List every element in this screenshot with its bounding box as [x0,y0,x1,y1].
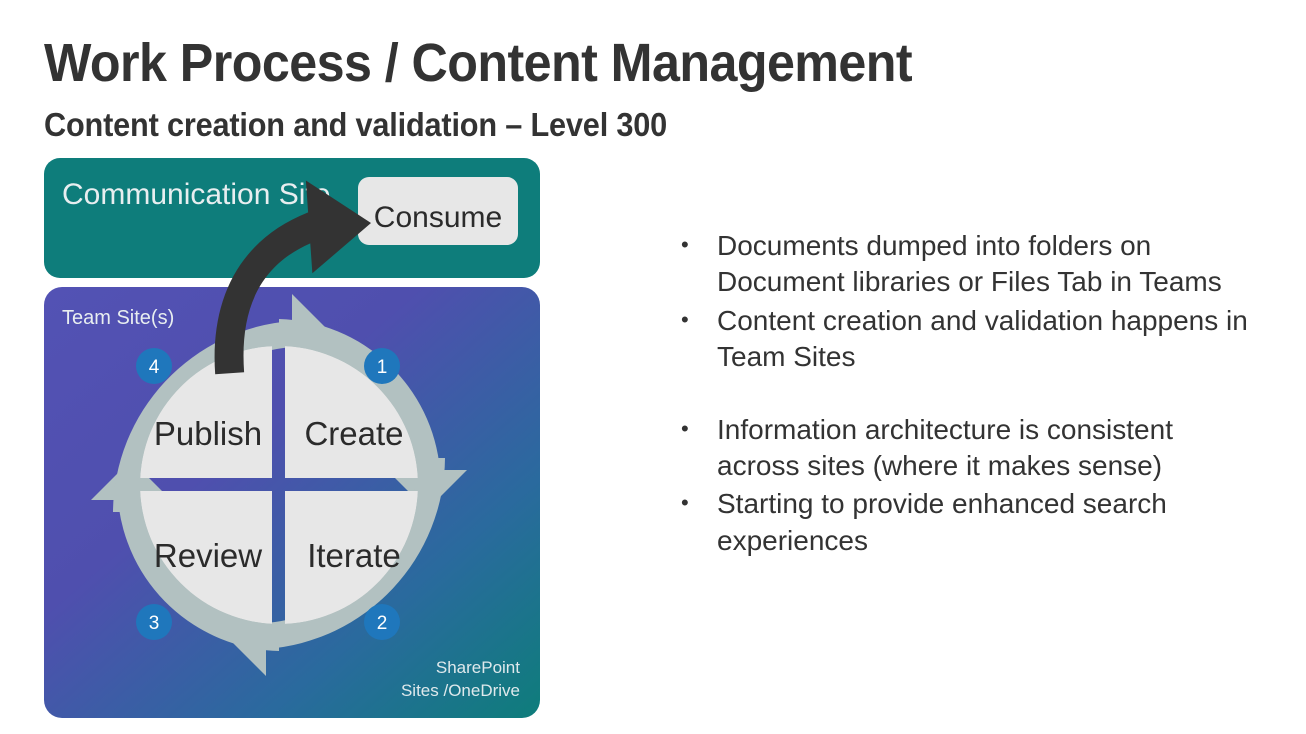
cycle-badge-3: 3 [136,604,172,640]
corner-note-line-1: SharePoint [436,658,520,677]
team-site-label: Team Site(s) [62,307,174,329]
content-lifecycle-diagram: Communication Site Consume Team Site(s) [44,158,540,718]
bullet-marker-icon: • [681,486,717,520]
bullet-list: • Documents dumped into folders on Docum… [681,228,1261,561]
list-item: • Documents dumped into folders on Docum… [681,228,1261,301]
cycle-badge-1: 1 [364,348,400,384]
bullet-marker-icon: • [681,303,717,337]
cycle-step-label-review: Review [154,537,262,574]
page-subtitle: Content creation and validation – Level … [44,107,667,143]
bullet-text: Documents dumped into folders on Documen… [717,228,1261,301]
cycle-step-label-create: Create [304,415,403,452]
cycle-step-label-iterate: Iterate [307,537,401,574]
cycle-step-label-publish: Publish [154,415,262,452]
cycle-badge-3-number: 3 [149,613,160,634]
list-item: • Content creation and validation happen… [681,303,1261,376]
bullet-text: Content creation and validation happens … [717,303,1261,376]
bullet-marker-icon: • [681,412,717,446]
bullet-group-spacer [681,378,1261,412]
list-item: • Starting to provide enhanced search ex… [681,486,1261,559]
consume-label: Consume [374,201,502,234]
page-title: Work Process / Content Management [44,35,912,92]
consume-chip[interactable]: Consume [358,177,518,245]
bullet-marker-icon: • [681,228,717,262]
list-item: • Information architecture is consistent… [681,412,1261,485]
cycle-badge-2-number: 2 [377,613,388,634]
cycle-badge-1-number: 1 [377,357,388,378]
cycle-quadrants [140,346,418,624]
cycle-badge-2: 2 [364,604,400,640]
bullet-text: Starting to provide enhanced search expe… [717,486,1261,559]
cycle-badge-4: 4 [136,348,172,384]
cycle-badge-4-number: 4 [149,357,160,378]
communication-site-label: Communication Site [62,178,330,211]
corner-note-line-2: Sites /OneDrive [401,681,520,700]
bullet-text: Information architecture is consistent a… [717,412,1261,485]
